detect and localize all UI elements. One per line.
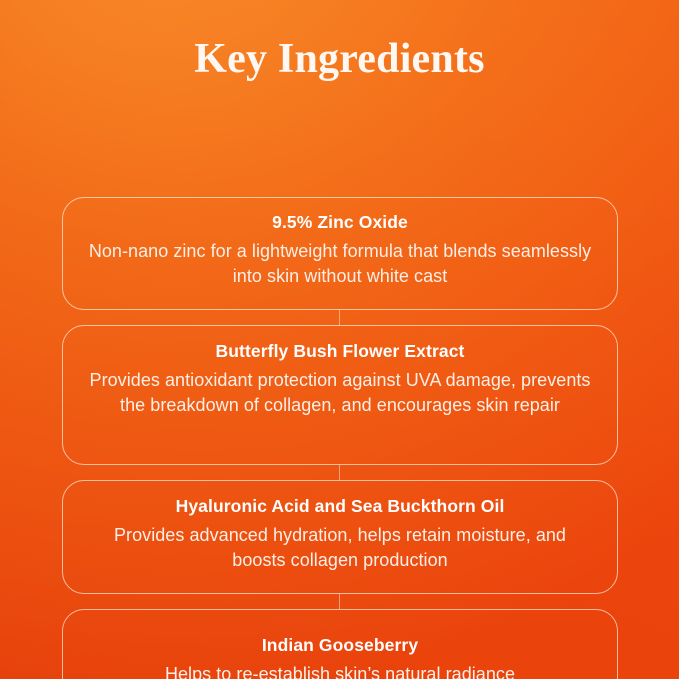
ingredient-card-body: Provides advanced hydration, helps retai… [85, 523, 595, 573]
ingredient-card-title: 9.5% Zinc Oxide [85, 211, 595, 235]
ingredient-card-butterfly-bush-flower-extract: Butterfly Bush Flower Extract Provides a… [62, 325, 618, 465]
ingredient-card-title: Butterfly Bush Flower Extract [85, 340, 595, 364]
card-connector-line-3 [339, 594, 340, 609]
ingredient-card-title: Indian Gooseberry [85, 634, 595, 658]
ingredient-card-body: Provides antioxidant protection against … [85, 368, 595, 418]
card-connector-line-1 [339, 310, 340, 325]
ingredient-card-title: Hyaluronic Acid and Sea Buckthorn Oil [85, 495, 595, 519]
ingredient-card-indian-gooseberry: Indian Gooseberry Helps to re-establish … [62, 609, 618, 679]
ingredient-card-body: Non-nano zinc for a lightweight formula … [85, 239, 595, 289]
page-title: Key Ingredients [0, 0, 679, 82]
card-connector-line-2 [339, 465, 340, 480]
ingredient-card-zinc-oxide: 9.5% Zinc Oxide Non-nano zinc for a ligh… [62, 197, 618, 310]
ingredient-card-body: Helps to re-establish skin’s natural rad… [85, 662, 595, 679]
ingredient-card-hyaluronic-acid-sea-buckthorn-oil: Hyaluronic Acid and Sea Buckthorn Oil Pr… [62, 480, 618, 594]
key-ingredients-poster: Key Ingredients 9.5% Zinc Oxide Non-nano… [0, 0, 679, 679]
